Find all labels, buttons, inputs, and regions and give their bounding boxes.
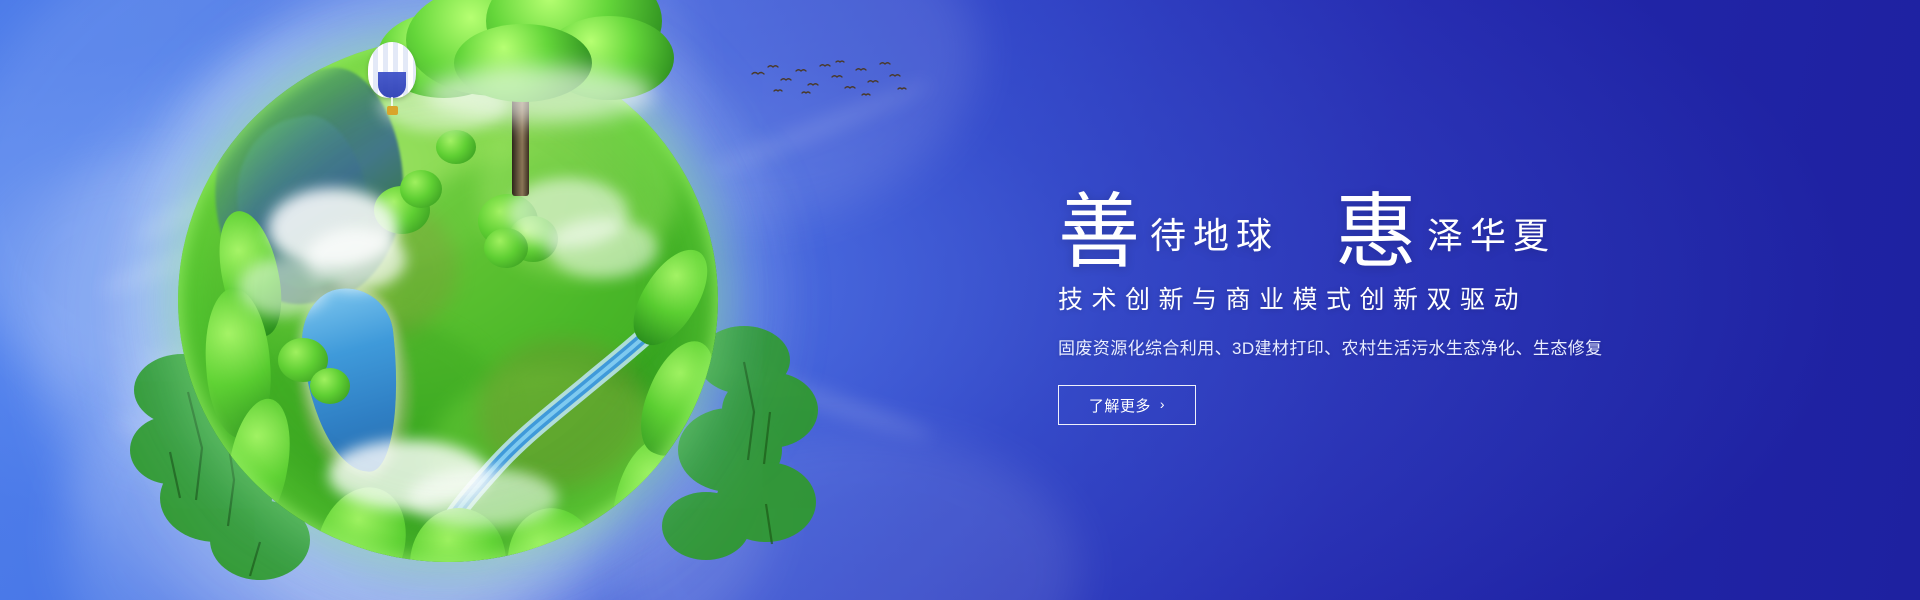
learn-more-button[interactable]: 了解更多 › <box>1058 385 1196 425</box>
mountain-ridge <box>222 106 385 299</box>
globe-illustration <box>150 0 770 600</box>
hero-content: 善 待地球 惠 泽华夏 技术创新与商业模式创新双驱动 固废资源化综合利用、3D建… <box>1058 168 1758 425</box>
tree-icon <box>376 0 676 220</box>
hero-banner: 善 待地球 惠 泽华夏 技术创新与商业模式创新双驱动 固废资源化综合利用、3D建… <box>0 0 1920 600</box>
headline-char-shan: 善 <box>1058 195 1140 270</box>
learn-more-label: 了解更多 <box>1089 395 1151 416</box>
rim-tree <box>209 206 290 343</box>
page-title: 善 待地球 惠 泽华夏 <box>1058 168 1758 264</box>
bush <box>484 228 528 268</box>
mist-wisp <box>424 66 654 122</box>
hot-air-balloon-icon <box>368 42 416 118</box>
surface-cloud <box>306 228 406 290</box>
headline-char-hui: 惠 <box>1335 195 1417 270</box>
chevron-right-icon: › <box>1160 397 1165 411</box>
headline-text-zehuaxia: 泽华夏 <box>1417 218 1556 254</box>
rim-tree <box>406 505 509 562</box>
balloon-envelope-band <box>378 72 406 98</box>
surface-cloud <box>238 258 328 316</box>
lake-shoreline <box>285 272 424 491</box>
surface-cloud <box>548 218 658 278</box>
bird-flock-icon <box>748 58 908 102</box>
rim-tree <box>620 238 718 357</box>
grass-patch <box>248 318 508 528</box>
surface-cloud <box>328 440 488 510</box>
bush <box>278 338 328 382</box>
lake <box>297 284 408 478</box>
balloon-basket <box>387 106 398 115</box>
bush <box>310 368 350 404</box>
rim-tree <box>201 286 275 440</box>
page-subtitle: 技术创新与商业模式创新双驱动 <box>1058 280 1758 316</box>
earth-patch <box>478 338 648 488</box>
page-description: 固废资源化综合利用、3D建材打印、农村生活污水生态净化、生态修复 <box>1058 334 1758 359</box>
headline-text-daidiqiu: 待地球 <box>1140 218 1279 254</box>
rim-tree <box>302 476 420 562</box>
surface-cloud <box>408 468 558 528</box>
bush <box>508 216 558 262</box>
